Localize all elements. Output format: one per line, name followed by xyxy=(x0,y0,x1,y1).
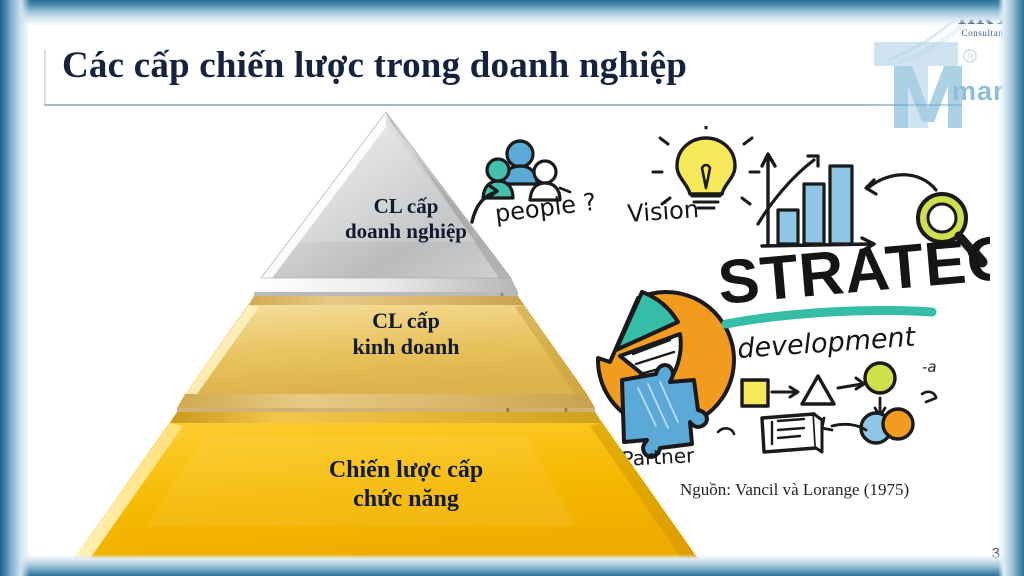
strategy-tail-mark: -a xyxy=(922,358,937,376)
pyramid-diagram: CL cấp doanh nghiệp CL cấp kinh doanh Ch… xyxy=(56,106,756,576)
hkt-logo-text: HKT Consultant xyxy=(958,6,1010,38)
tier-label-business: CL cấp kinh doanh xyxy=(56,308,756,361)
title-left-rule xyxy=(44,50,46,106)
flow-shapes-icon xyxy=(742,363,895,416)
title-block: Các cấp chiến lược trong doanh nghiệp xyxy=(44,46,964,108)
coins-icon xyxy=(822,409,913,443)
page-number: 3 xyxy=(992,545,1000,562)
tier-corporate-line1: CL cấp xyxy=(56,194,756,219)
svg-text:R: R xyxy=(967,52,974,62)
tier-business-line2: kinh doanh xyxy=(56,334,756,360)
slide-canvas: Các cấp chiến lược trong doanh nghiệp HK… xyxy=(0,0,1024,576)
tier-functional-line2: chức năng xyxy=(56,485,756,514)
slide-frame-left xyxy=(0,0,30,576)
tier-label-corporate: CL cấp doanh nghiệp xyxy=(56,194,756,244)
tier-corporate-line2: doanh nghiệp xyxy=(56,219,756,244)
tier-label-functional: Chiến lược cấp chức năng xyxy=(56,456,756,514)
tier-business-line1: CL cấp xyxy=(56,308,756,334)
tier-functional-line1: Chiến lược cấp xyxy=(56,456,756,485)
document-icon xyxy=(762,414,822,452)
page-title: Các cấp chiến lược trong doanh nghiệp xyxy=(62,44,687,87)
title-underline xyxy=(44,104,962,106)
brand-logo: HKT Consultant R mark xyxy=(868,2,1018,132)
hkt-logo-main: HKT xyxy=(958,6,1010,28)
source-note: Nguồn: Vancil và Lorange (1975) xyxy=(680,480,909,500)
curve-arrow-icon xyxy=(868,175,936,190)
strategy-subhead: development xyxy=(736,322,917,365)
watermark-word: mark xyxy=(952,76,1021,107)
